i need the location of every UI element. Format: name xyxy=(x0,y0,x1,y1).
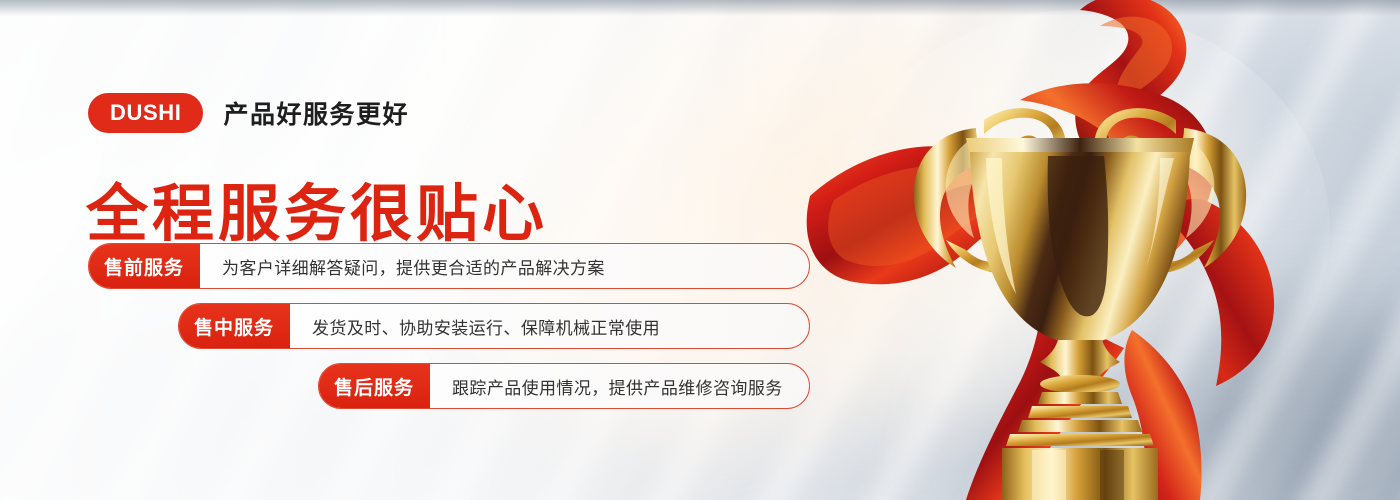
eyebrow-text: 产品好服务更好 xyxy=(223,95,409,131)
service-tag: 售后服务 xyxy=(318,363,430,409)
service-tag: 售前服务 xyxy=(88,243,200,289)
eyebrow-row: DUSHI 产品好服务更好 xyxy=(88,93,409,133)
trophy-base xyxy=(1002,448,1158,500)
pedestal-tier-4 xyxy=(1006,434,1154,446)
service-description: 发货及时、协助安装运行、保障机械正常使用 xyxy=(290,304,686,348)
service-tag: 售中服务 xyxy=(178,303,290,349)
service-description: 为客户详细解答疑问，提供更合适的产品解决方案 xyxy=(200,244,631,288)
pedestal-tier-2 xyxy=(1028,406,1132,418)
pedestal-tier-1 xyxy=(1038,392,1122,404)
service-list: 售前服务 为客户详细解答疑问，提供更合适的产品解决方案 售中服务 发货及时、协助… xyxy=(0,243,810,423)
service-description: 跟踪产品使用情况，提供产品维修咨询服务 xyxy=(430,364,809,408)
promo-banner: DUSHI 产品好服务更好 全程服务很贴心 售前服务 为客户详细解答疑问，提供更… xyxy=(0,0,1400,500)
page-title: 全程服务很贴心 xyxy=(86,182,548,249)
service-item-presale[interactable]: 售前服务 为客户详细解答疑问，提供更合适的产品解决方案 xyxy=(88,243,810,289)
service-item-aftersale[interactable]: 售后服务 跟踪产品使用情况，提供产品维修咨询服务 xyxy=(318,363,810,409)
banner-content: DUSHI 产品好服务更好 全程服务很贴心 售前服务 为客户详细解答疑问，提供更… xyxy=(0,0,900,500)
brand-badge: DUSHI xyxy=(88,93,203,133)
pedestal-tier-3 xyxy=(1018,420,1142,432)
service-item-duringsale[interactable]: 售中服务 发货及时、协助安装运行、保障机械正常使用 xyxy=(178,303,810,349)
